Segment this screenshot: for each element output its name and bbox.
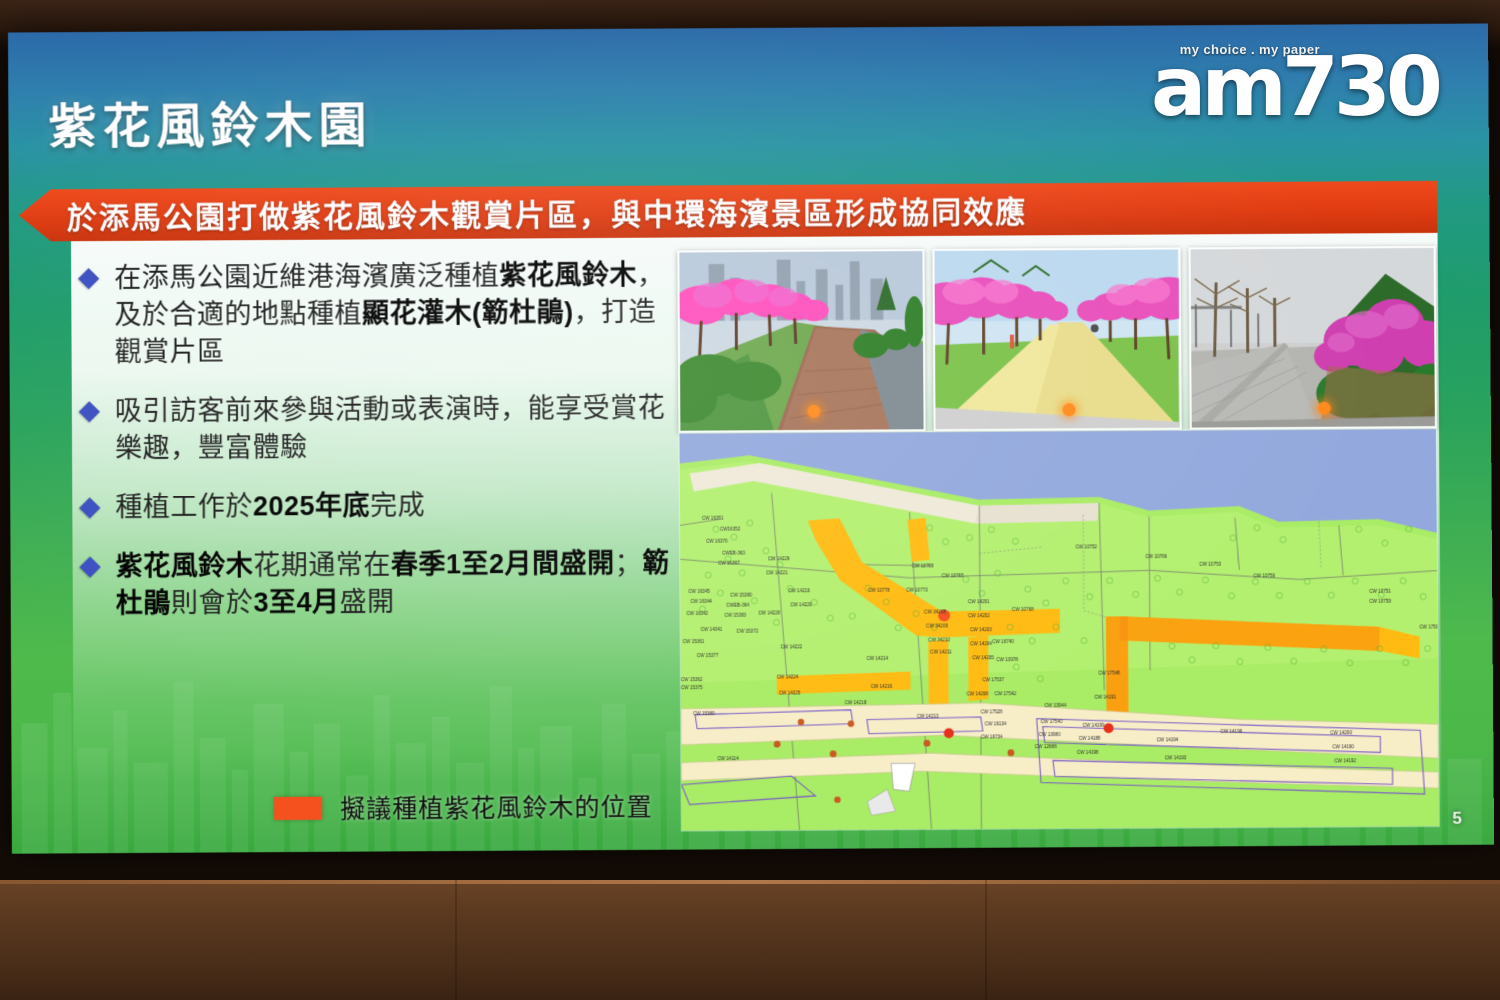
svg-text:CW 14214: CW 14214: [866, 656, 888, 661]
bullet-seg: 紫花風鈴木: [116, 550, 254, 581]
svg-text:CW 14225: CW 14225: [779, 690, 801, 695]
svg-text:CW 14222: CW 14222: [781, 644, 803, 649]
svg-text:CW 14201: CW 14201: [968, 599, 990, 604]
svg-text:CWEB-364: CWEB-364: [726, 603, 749, 608]
svg-text:CW 14221: CW 14221: [766, 571, 788, 576]
diamond-bullet-icon: [79, 401, 100, 422]
svg-text:CW 17540: CW 17540: [1041, 718, 1063, 723]
bullet-seg: 在添馬公園近維港海濱廣泛種植: [114, 261, 499, 293]
svg-text:CW 14202: CW 14202: [968, 613, 990, 618]
bullet-list: 在添馬公園近維港海濱廣泛種植紫花風鈴木，及於合適的地點種植顯花灌木(簕杜鵑)，打…: [81, 257, 684, 645]
bullet-seg: 完成: [370, 490, 425, 520]
photo-bougainvillea-walk: [1188, 246, 1437, 430]
diamond-bullet-icon: [79, 497, 100, 518]
bullet-text-3: 種植工作於2025年底完成: [115, 487, 425, 526]
svg-text:CW 14224: CW 14224: [777, 674, 799, 679]
svg-text:CW 16734: CW 16734: [981, 735, 1003, 740]
svg-text:CW 17548: CW 17548: [1098, 670, 1120, 675]
svg-text:CW16352: CW16352: [720, 527, 741, 532]
banner-text: 於添馬公園打做紫花風鈴木觀賞片區，與中環海濱景區形成協同效應: [67, 187, 1028, 237]
photo-tree-avenue: [933, 247, 1182, 431]
bullet-seg: 顯花灌木(簕杜鵑): [362, 297, 574, 328]
svg-text:CW 14205: CW 14205: [972, 655, 994, 660]
bullet-seg: 3至4月: [253, 587, 339, 618]
presentation-slide: 紫花風鈴木園 於添馬公園打做紫花風鈴木觀賞片區，與中環海濱景區形成協同效應 在添…: [8, 23, 1494, 853]
page-number: 5: [1452, 809, 1462, 829]
svg-text:CW 10759: CW 10759: [1253, 574, 1275, 579]
photo-strip: [677, 246, 1437, 433]
bullet-seg: 吸引訪客前來參與活動或表演時，能享受賞花樂趣，豐富體驗: [115, 393, 666, 463]
bullet-text-1: 在添馬公園近維港海濱廣泛種植紫花風鈴木，及於合適的地點種植顯花灌木(簕杜鵑)，打…: [114, 257, 682, 372]
svg-text:CW 14190: CW 14190: [1332, 745, 1354, 750]
svg-text:CW 10773: CW 10773: [906, 588, 928, 593]
svg-text:CW 14219: CW 14219: [788, 588, 810, 593]
svg-text:CW 15383: CW 15383: [724, 613, 746, 618]
diamond-bullet-icon: [80, 556, 101, 577]
svg-text:CW 13978: CW 13978: [996, 657, 1018, 662]
svg-text:CW 14203: CW 14203: [970, 627, 992, 632]
svg-text:CW 10752: CW 10752: [1075, 545, 1097, 550]
svg-text:CW 14199: CW 14199: [1083, 722, 1105, 727]
list-item: 吸引訪客前來參與活動或表演時，能享受賞花樂趣，豐富體驗: [82, 390, 683, 468]
svg-text:CW 10778: CW 10778: [868, 588, 890, 593]
svg-text:CW 17537: CW 17537: [982, 677, 1004, 682]
svg-text:CW 16345: CW 16345: [688, 589, 710, 594]
svg-text:CW 14191: CW 14191: [1094, 694, 1116, 699]
svg-text:CW 10768: CW 10768: [1012, 607, 1034, 612]
svg-text:CW 10759: CW 10759: [1369, 599, 1391, 604]
svg-text:CW 13980: CW 13980: [1039, 732, 1061, 737]
svg-text:CW 10751: CW 10751: [1369, 589, 1391, 594]
bullet-seg: 2025年底: [253, 491, 370, 522]
svg-text:CW 14198: CW 14198: [1077, 750, 1099, 755]
svg-text:CW 10788: CW 10788: [912, 564, 934, 569]
svg-text:CW 14114: CW 14114: [717, 756, 739, 761]
svg-text:CW 14216: CW 14216: [871, 684, 893, 689]
list-item: 紫花風鈴木花期通常在春季1至2月間盛開；簕杜鵑則會於3至4月盛開: [83, 545, 684, 623]
bullet-seg: 盛開: [340, 587, 395, 617]
svg-text:CWEB-363: CWEB-363: [722, 551, 745, 556]
svg-text:CW 15362: CW 15362: [681, 677, 703, 682]
svg-text:CW 16740: CW 16740: [992, 639, 1014, 644]
list-item: 在添馬公園近維港海濱廣泛種植紫花風鈴木，及於合適的地點種植顯花灌木(簕杜鵑)，打…: [81, 257, 682, 372]
svg-text:CW 14213: CW 14213: [917, 713, 939, 718]
svg-text:CW 14341: CW 14341: [701, 627, 723, 632]
svg-text:CW 34209: CW 34209: [926, 623, 948, 628]
list-item: 種植工作於2025年底完成: [82, 486, 683, 527]
svg-text:CW 16351: CW 16351: [702, 515, 724, 520]
site-plan-map: CW 16351 CW16352 CW 16370 CWEB-363 CW 16…: [678, 428, 1439, 832]
slide-subtitle-banner: 於添馬公園打做紫花風鈴木觀賞片區，與中環海濱景區形成協同效應: [19, 181, 1438, 242]
bullet-text-2: 吸引訪客前來參與活動或表演時，能享受賞花樂趣，豐富體驗: [115, 390, 683, 468]
bullet-seg: 種植工作於: [115, 491, 253, 522]
svg-text:CW 14220: CW 14220: [790, 602, 812, 607]
svg-text:CW 14188: CW 14188: [1079, 736, 1101, 741]
wall-panel-seam: [455, 880, 457, 1000]
svg-text:CW 17510: CW 17510: [1419, 624, 1438, 629]
bullet-seg: 紫花風鈴木: [499, 260, 637, 291]
projection-room: 紫花風鈴木園 於添馬公園打做紫花風鈴木觀賞片區，與中環海濱景區形成協同效應 在添…: [0, 0, 1500, 1000]
svg-text:CW 15375: CW 15375: [681, 685, 703, 690]
svg-text:CW 15372: CW 15372: [737, 629, 759, 634]
svg-text:CW 14192: CW 14192: [1335, 759, 1357, 764]
wall-panel-seam: [985, 880, 987, 1000]
laser-pointer-dot: [807, 405, 820, 418]
diamond-bullet-icon: [78, 268, 99, 289]
conference-room-wall: [0, 880, 1500, 1000]
map-legend: 擬議種植紫花風鈴木的位置: [274, 788, 653, 826]
slide-title: 紫花風鈴木園: [48, 85, 372, 157]
svg-text:CW 15361: CW 15361: [683, 639, 705, 644]
svg-text:CW 12688: CW 12688: [1035, 744, 1057, 749]
svg-text:CW 14200: CW 14200: [1330, 731, 1352, 736]
svg-text:CW 14228: CW 14228: [758, 611, 780, 616]
legend-swatch-icon: [274, 796, 322, 819]
svg-text:CW 16370: CW 16370: [706, 539, 728, 544]
svg-text:CW 10753: CW 10753: [1199, 562, 1221, 567]
svg-text:CW 15380: CW 15380: [730, 593, 752, 598]
svg-text:CW 16342: CW 16342: [686, 611, 708, 616]
svg-text:CW 14218: CW 14218: [845, 700, 867, 705]
svg-text:CW 14229: CW 14229: [768, 557, 790, 562]
svg-text:CW 17528: CW 17528: [981, 709, 1003, 714]
bullet-text-4: 紫花風鈴木花期通常在春季1至2月間盛開；簕杜鵑則會於3至4月盛開: [116, 545, 684, 623]
logo-wordmark: am730: [1151, 53, 1438, 124]
svg-text:CW 14204: CW 14204: [970, 641, 992, 646]
laser-pointer-dot: [1062, 403, 1075, 416]
am730-logo: my choice . my paper am730: [1151, 42, 1438, 124]
svg-text:CW 15380: CW 15380: [693, 711, 715, 716]
svg-text:CW 16344: CW 16344: [690, 599, 712, 604]
svg-text:CW 10766: CW 10766: [1145, 554, 1167, 559]
svg-text:CW 34208: CW 34208: [924, 610, 946, 615]
svg-text:CW 14211: CW 14211: [930, 649, 952, 654]
bullet-seg: 春季1至2月間盛開: [391, 548, 615, 579]
svg-text:CW 16367: CW 16367: [718, 561, 740, 566]
legend-label: 擬議種植紫花風鈴木的位置: [340, 788, 653, 826]
bullet-seg: 則會於: [171, 587, 254, 618]
svg-text:CW 14193: CW 14193: [1165, 756, 1187, 761]
photo-promenade-path: [677, 249, 926, 433]
svg-text:CW 13944: CW 13944: [1045, 703, 1067, 708]
bullet-seg: ；: [615, 548, 643, 578]
bullet-seg: 花期通常在: [253, 550, 391, 581]
svg-text:CW 16134: CW 16134: [985, 721, 1007, 726]
svg-text:CW 14208: CW 14208: [967, 691, 989, 696]
svg-text:CW 14196: CW 14196: [1220, 729, 1242, 734]
svg-text:CW 34210: CW 34210: [928, 637, 950, 642]
svg-text:CW 10765: CW 10765: [942, 573, 964, 578]
svg-text:CW 14194: CW 14194: [1157, 738, 1179, 743]
svg-text:CW 15377: CW 15377: [697, 653, 719, 658]
svg-text:CW 17542: CW 17542: [995, 691, 1017, 696]
